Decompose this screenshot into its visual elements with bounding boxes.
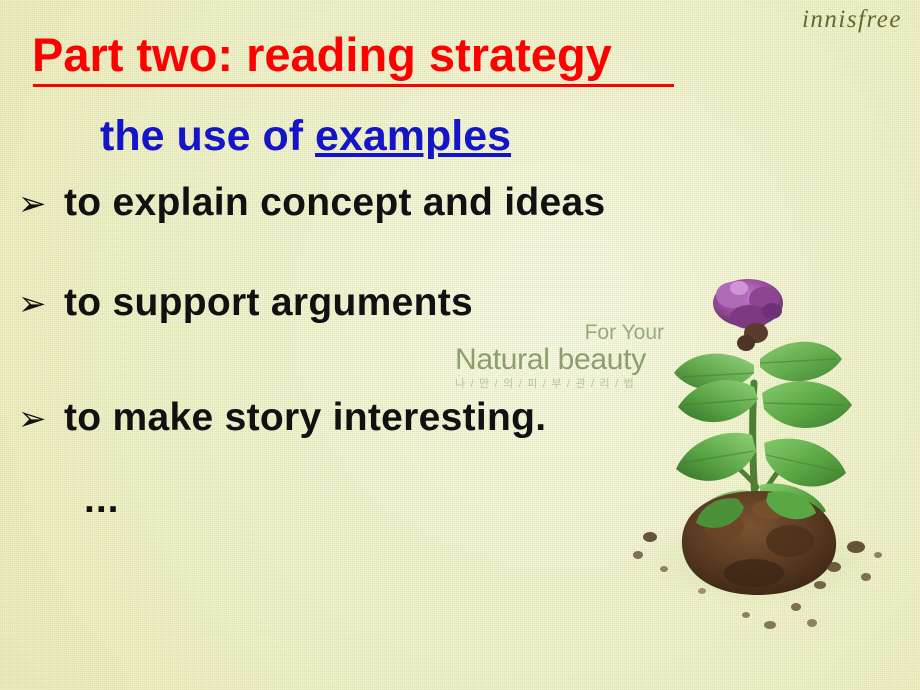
bullet-continuation: ... — [84, 478, 120, 522]
bullet-label: to support arguments — [64, 283, 473, 322]
bullet-item: ➢ to explain concept and ideas — [18, 183, 606, 222]
potted-plant-image — [620, 255, 920, 675]
bullet-item: ➢ to support arguments — [18, 283, 473, 322]
subtitle-keyword: examples — [315, 112, 511, 160]
page-subtitle: the use of examples — [100, 112, 511, 161]
title-underline — [33, 84, 674, 87]
presentation-slide: innisfree Part two: reading strategy the… — [0, 0, 920, 690]
arrow-bullet-icon: ➢ — [18, 402, 64, 436]
innisfree-logo: innisfree — [802, 6, 902, 34]
arrow-bullet-icon: ➢ — [18, 287, 64, 321]
subtitle-lead: the use of — [100, 112, 315, 160]
page-title: Part two: reading strategy — [32, 27, 612, 82]
bullet-label: to explain concept and ideas — [64, 183, 606, 222]
arrow-bullet-icon: ➢ — [18, 187, 64, 221]
bullet-label: to make story interesting. — [64, 398, 546, 437]
plant-flower — [713, 279, 783, 351]
bullet-item: ➢ to make story interesting. — [18, 398, 546, 437]
plant-soil — [682, 491, 836, 595]
